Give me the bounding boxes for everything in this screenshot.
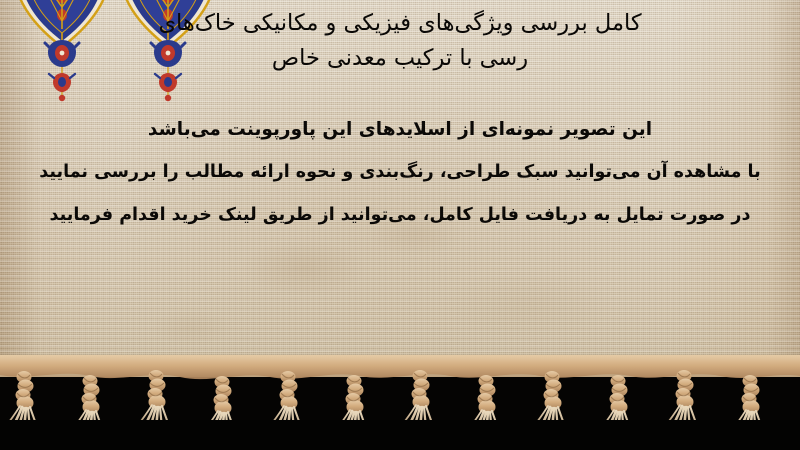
title-line-1: کامل بررسی ویژگی‌های فیزیکی و مکانیکی خا… (40, 6, 760, 41)
slide-body: این تصویر نمونه‌ای از اسلایدهای این پاور… (30, 108, 770, 237)
body-line-1: این تصویر نمونه‌ای از اسلایدهای این پاور… (30, 108, 770, 151)
slide-text-layer: کامل بررسی ویژگی‌های فیزیکی و مکانیکی خا… (0, 0, 800, 372)
presentation-slide: کامل بررسی ویژگی‌های فیزیکی و مکانیکی خا… (0, 0, 800, 450)
slide-title: کامل بررسی ویژگی‌های فیزیکی و مکانیکی خا… (40, 6, 760, 76)
title-line-2: رسی با ترکیب معدنی خاص (40, 41, 760, 76)
body-line-3: در صورت تمایل به دریافت فایل کامل، می‌تو… (30, 194, 770, 237)
body-line-2: با مشاهده آن می‌توانید سبک طراحی، رنگ‌بن… (30, 151, 770, 194)
slide-bottom-black-band (0, 420, 800, 450)
